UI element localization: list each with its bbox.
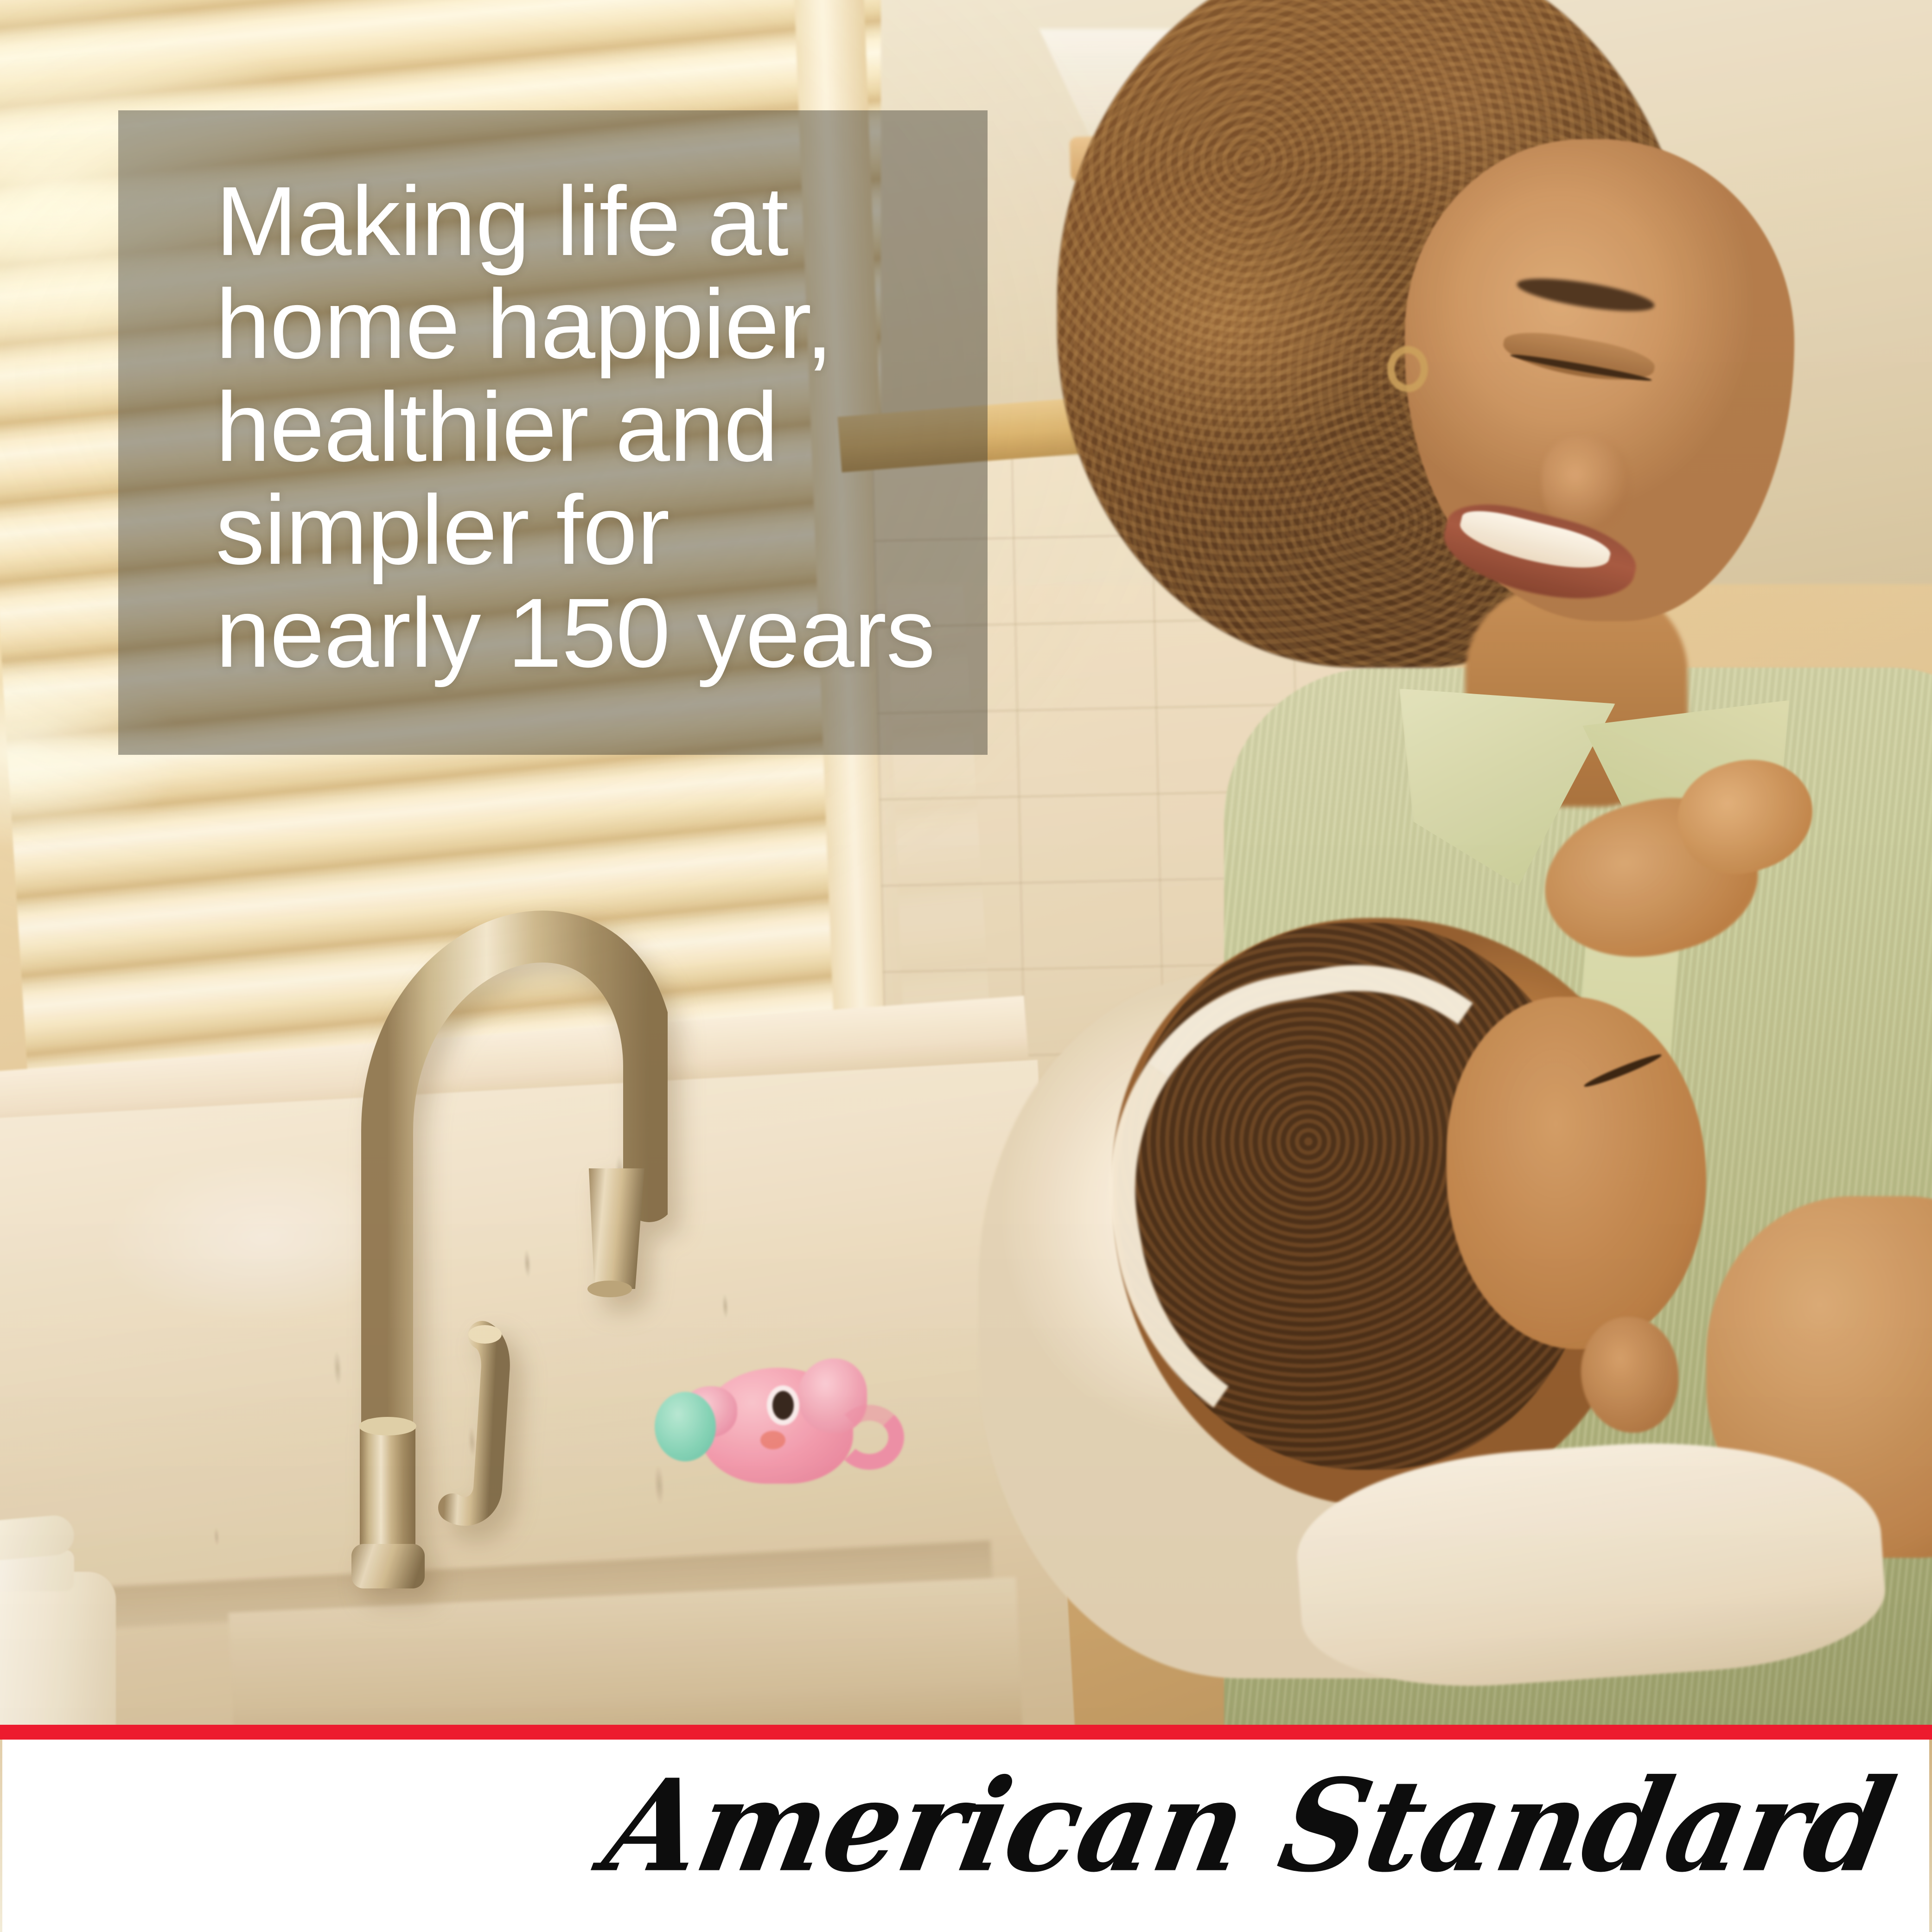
elephant-cheek — [760, 1431, 785, 1449]
american-standard-logo[interactable]: American Standard — [596, 1763, 1902, 1889]
soap-dispenser — [0, 1516, 125, 1725]
elephant-green-disc — [655, 1392, 716, 1461]
footer-bar: American Standard — [0, 1740, 1932, 1932]
elephant-eye — [772, 1391, 794, 1420]
page-title: Making life at home happier, healthier a… — [216, 170, 988, 684]
ad-canvas: Making life at home happier, healthier a… — [0, 0, 1932, 1932]
brand-red-rule — [0, 1725, 1932, 1740]
hoop-earring — [1387, 346, 1428, 392]
kitchen-faucet-icon — [343, 872, 668, 1595]
footer-edge-left — [0, 1740, 2, 1932]
soap-bottle — [0, 1572, 116, 1725]
elephant-handle — [835, 1405, 904, 1470]
headline-overlay-panel: Making life at home happier, healthier a… — [118, 110, 988, 755]
footer-edge-right — [1929, 1740, 1932, 1932]
woman-holding-baby — [918, 0, 1932, 1725]
pink-elephant-toy — [644, 1340, 904, 1493]
